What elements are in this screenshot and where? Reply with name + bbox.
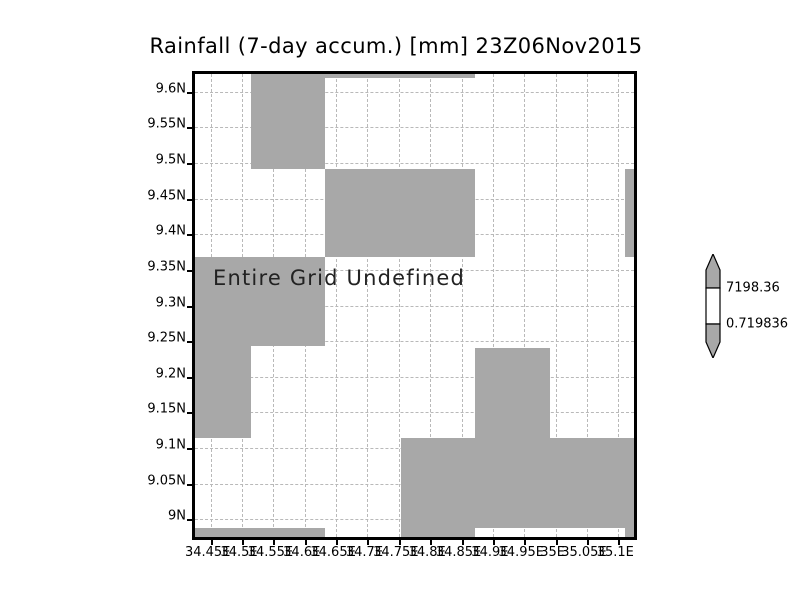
y-axis-tick [187,412,195,414]
y-axis-tick [187,377,195,379]
y-axis-tick [187,199,195,201]
y-axis-tick-label: 9.4N [156,224,186,239]
x-axis-tick [211,537,213,545]
y-axis-tick-label: 9.15N [147,402,186,417]
y-axis-tick-label: 9.25N [147,331,186,346]
y-axis-tick [187,270,195,272]
x-axis-tick [399,537,401,545]
colorbar-min-label: 0.719836 [726,317,788,332]
colorbar-legend: 7198.36 0.719836 [700,254,790,358]
shaded-cell-block [401,438,634,528]
x-axis-tick [430,537,432,545]
colorbar-max-label: 7198.36 [726,281,780,296]
shaded-cell-block [325,169,475,257]
y-axis-tick-label: 9.6N [156,81,186,96]
gridline-horizontal [195,377,634,378]
x-axis-tick [587,537,589,545]
shaded-cell-block [195,346,251,438]
y-axis-tick-label: 9.5N [156,153,186,168]
y-axis-tick [187,341,195,343]
shaded-cell-block [195,528,325,537]
x-axis-tick [305,537,307,545]
x-axis-tick [367,537,369,545]
y-axis-tick-label: 9N [168,509,186,524]
y-axis-tick-label: 9.2N [156,366,186,381]
shaded-cell-block [625,169,634,257]
shaded-cell-block [251,74,325,169]
undefined-grid-message: Entire Grid Undefined [213,266,465,290]
x-axis-labels: 34.45E34.5E34.55E34.6E34.65E34.7E34.75E3… [192,545,631,565]
x-axis-tick [524,537,526,545]
y-axis-tick [187,163,195,165]
y-axis-tick [187,234,195,236]
y-axis-labels: 9.6N9.55N9.5N9.45N9.4N9.35N9.3N9.25N9.2N… [140,71,186,534]
y-axis-tick [187,92,195,94]
x-axis-tick [242,537,244,545]
page-title: Rainfall (7-day accum.) [mm] 23Z06Nov201… [0,34,792,58]
x-axis-tick [462,537,464,545]
y-axis-tick-label: 9.55N [147,117,186,132]
shaded-cell-block [625,528,634,537]
colorbar-swatch-icon [700,254,726,358]
plot-frame: Entire Grid Undefined [192,71,637,540]
x-axis-tick [273,537,275,545]
x-axis-tick-label: 34.95E [499,545,544,560]
gridline-horizontal [195,412,634,413]
y-axis-tick-label: 9.3N [156,295,186,310]
x-axis-tick-label: 35.1E [597,545,634,560]
plot-canvas: Rainfall (7-day accum.) [mm] 23Z06Nov201… [0,0,792,612]
y-axis-tick-label: 9.05N [147,473,186,488]
y-axis-tick-label: 9.1N [156,437,186,452]
x-axis-tick [618,537,620,545]
y-axis-tick [187,448,195,450]
y-axis-tick-label: 9.45N [147,188,186,203]
x-axis-tick [556,537,558,545]
y-axis-tick [187,127,195,129]
shaded-cell-block [401,528,475,537]
y-axis-tick [187,519,195,521]
shaded-cell-block [475,348,550,438]
y-axis-tick [187,484,195,486]
y-axis-tick [187,306,195,308]
plot-area: Entire Grid Undefined [195,74,634,537]
x-axis-tick [336,537,338,545]
y-axis-tick-label: 9.35N [147,259,186,274]
shaded-cell-block [325,74,475,78]
x-axis-tick [493,537,495,545]
